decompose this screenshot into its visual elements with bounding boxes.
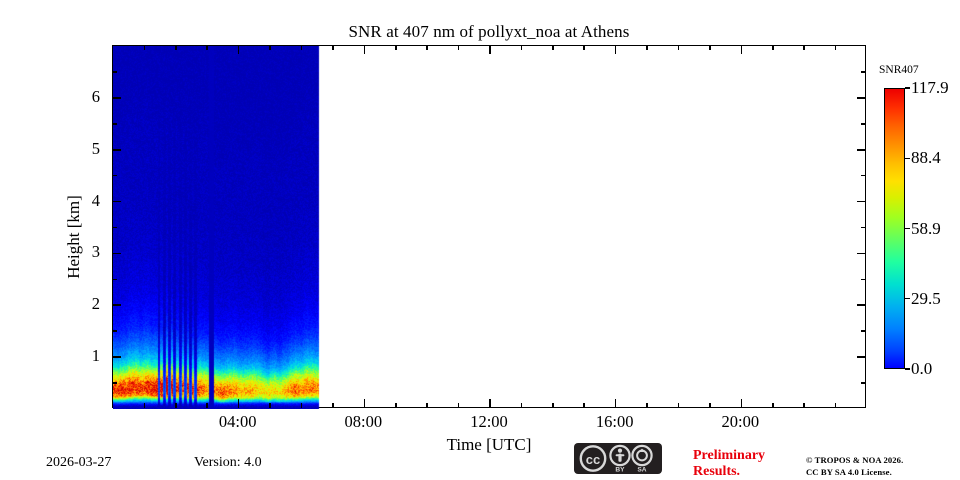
x-minor-tick — [803, 45, 805, 50]
x-major-tick — [238, 45, 240, 54]
x-minor-tick — [395, 403, 397, 408]
x-minor-tick — [678, 403, 680, 408]
x-minor-tick — [395, 45, 397, 50]
x-minor-tick — [175, 403, 177, 408]
x-tick-label: 12:00 — [470, 412, 508, 432]
colorbar-tick — [905, 87, 910, 88]
y-major-tick — [112, 304, 121, 306]
colorbar-tick — [905, 158, 910, 159]
footer-date: 2026-03-27 — [46, 455, 111, 471]
x-major-tick — [741, 399, 743, 408]
preliminary-line-2: Results. — [693, 464, 765, 480]
colorbar-tick — [905, 298, 910, 299]
x-minor-tick — [552, 45, 554, 50]
colorbar-tick — [905, 228, 910, 229]
colorbar-gradient — [884, 88, 905, 369]
svg-text:BY: BY — [615, 467, 625, 474]
x-minor-tick — [709, 45, 711, 50]
svg-text:cc: cc — [586, 452, 600, 467]
x-major-tick — [489, 399, 491, 408]
colorbar-tick-label: 29.5 — [911, 289, 941, 309]
x-minor-tick — [175, 45, 177, 50]
x-minor-tick — [552, 403, 554, 408]
y-major-tick — [112, 97, 121, 99]
colorbar-tick — [905, 368, 910, 369]
y-minor-tick — [861, 227, 866, 229]
y-major-tick — [112, 201, 121, 203]
y-tick-label: 3 — [84, 242, 100, 262]
y-minor-tick — [861, 279, 866, 281]
x-minor-tick — [144, 403, 146, 408]
y-minor-tick — [112, 123, 117, 125]
x-minor-tick — [772, 45, 774, 50]
plot-area — [112, 45, 866, 408]
y-minor-tick — [112, 227, 117, 229]
y-tick-label: 1 — [84, 346, 100, 366]
x-minor-tick — [332, 45, 334, 50]
y-minor-tick — [112, 279, 117, 281]
y-minor-tick — [861, 175, 866, 177]
y-tick-label: 6 — [84, 87, 100, 107]
snr-heatmap-canvas — [113, 46, 867, 409]
y-minor-tick — [861, 123, 866, 125]
x-tick-label: 04:00 — [219, 412, 257, 432]
x-minor-tick — [144, 45, 146, 50]
y-minor-tick — [112, 71, 117, 73]
footer-version: Version: 4.0 — [194, 455, 262, 471]
y-major-tick — [112, 356, 121, 358]
x-minor-tick — [458, 45, 460, 50]
x-minor-tick — [301, 403, 303, 408]
x-minor-tick — [269, 403, 271, 408]
y-major-tick — [112, 149, 121, 151]
y-major-tick — [857, 149, 866, 151]
y-tick-label: 4 — [84, 191, 100, 211]
y-minor-tick — [112, 175, 117, 177]
y-major-tick — [857, 253, 866, 255]
y-minor-tick — [861, 382, 866, 384]
x-minor-tick — [521, 403, 523, 408]
x-minor-tick — [458, 403, 460, 408]
preliminary-line-1: Preliminary — [693, 448, 765, 464]
x-minor-tick — [269, 45, 271, 50]
colorbar-title: SNR407 — [879, 64, 919, 76]
copyright-line-1: © TROPOS & NOA 2026. — [806, 455, 903, 467]
x-tick-label: 20:00 — [722, 412, 760, 432]
x-minor-tick — [646, 403, 648, 408]
x-minor-tick — [709, 403, 711, 408]
x-minor-tick — [206, 45, 208, 50]
x-minor-tick — [803, 403, 805, 408]
x-minor-tick — [678, 45, 680, 50]
colorbar-tick-label: 58.9 — [911, 219, 941, 239]
y-minor-tick — [112, 382, 117, 384]
y-major-tick — [112, 253, 121, 255]
x-major-tick — [615, 45, 617, 54]
x-minor-tick — [426, 45, 428, 50]
y-major-tick — [857, 97, 866, 99]
x-major-tick — [364, 45, 366, 54]
y-tick-label: 2 — [84, 294, 100, 314]
x-minor-tick — [835, 45, 837, 50]
x-minor-tick — [646, 45, 648, 50]
x-major-tick — [364, 399, 366, 408]
creative-commons-badge-icon: cc BY SA — [574, 443, 662, 474]
x-minor-tick — [835, 403, 837, 408]
y-minor-tick — [861, 71, 866, 73]
y-minor-tick — [112, 330, 117, 332]
y-minor-tick — [861, 330, 866, 332]
x-tick-label: 08:00 — [345, 412, 383, 432]
x-minor-tick — [772, 403, 774, 408]
x-minor-tick — [206, 403, 208, 408]
colorbar-tick-label: 0.0 — [911, 359, 932, 379]
x-minor-tick — [583, 403, 585, 408]
x-minor-tick — [426, 403, 428, 408]
y-tick-label: 5 — [84, 139, 100, 159]
x-minor-tick — [521, 45, 523, 50]
x-major-tick — [741, 45, 743, 54]
svg-text:SA: SA — [637, 467, 646, 474]
colorbar-tick-label: 88.4 — [911, 148, 941, 168]
y-major-tick — [857, 201, 866, 203]
x-minor-tick — [583, 45, 585, 50]
y-major-tick — [857, 304, 866, 306]
copyright-line-2: CC BY SA 4.0 License. — [806, 467, 903, 479]
y-major-tick — [857, 356, 866, 358]
x-major-tick — [489, 45, 491, 54]
preliminary-results-note: Preliminary Results. — [693, 448, 765, 480]
page-title: SNR at 407 nm of pollyxt_noa at Athens — [0, 22, 960, 42]
x-major-tick — [615, 399, 617, 408]
x-minor-tick — [301, 45, 303, 50]
x-tick-label: 16:00 — [596, 412, 634, 432]
copyright-note: © TROPOS & NOA 2026. CC BY SA 4.0 Licens… — [806, 455, 903, 478]
colorbar-tick-label: 117.9 — [911, 78, 949, 98]
x-major-tick — [238, 399, 240, 408]
y-axis-title: Height [km] — [64, 157, 84, 317]
x-minor-tick — [332, 403, 334, 408]
